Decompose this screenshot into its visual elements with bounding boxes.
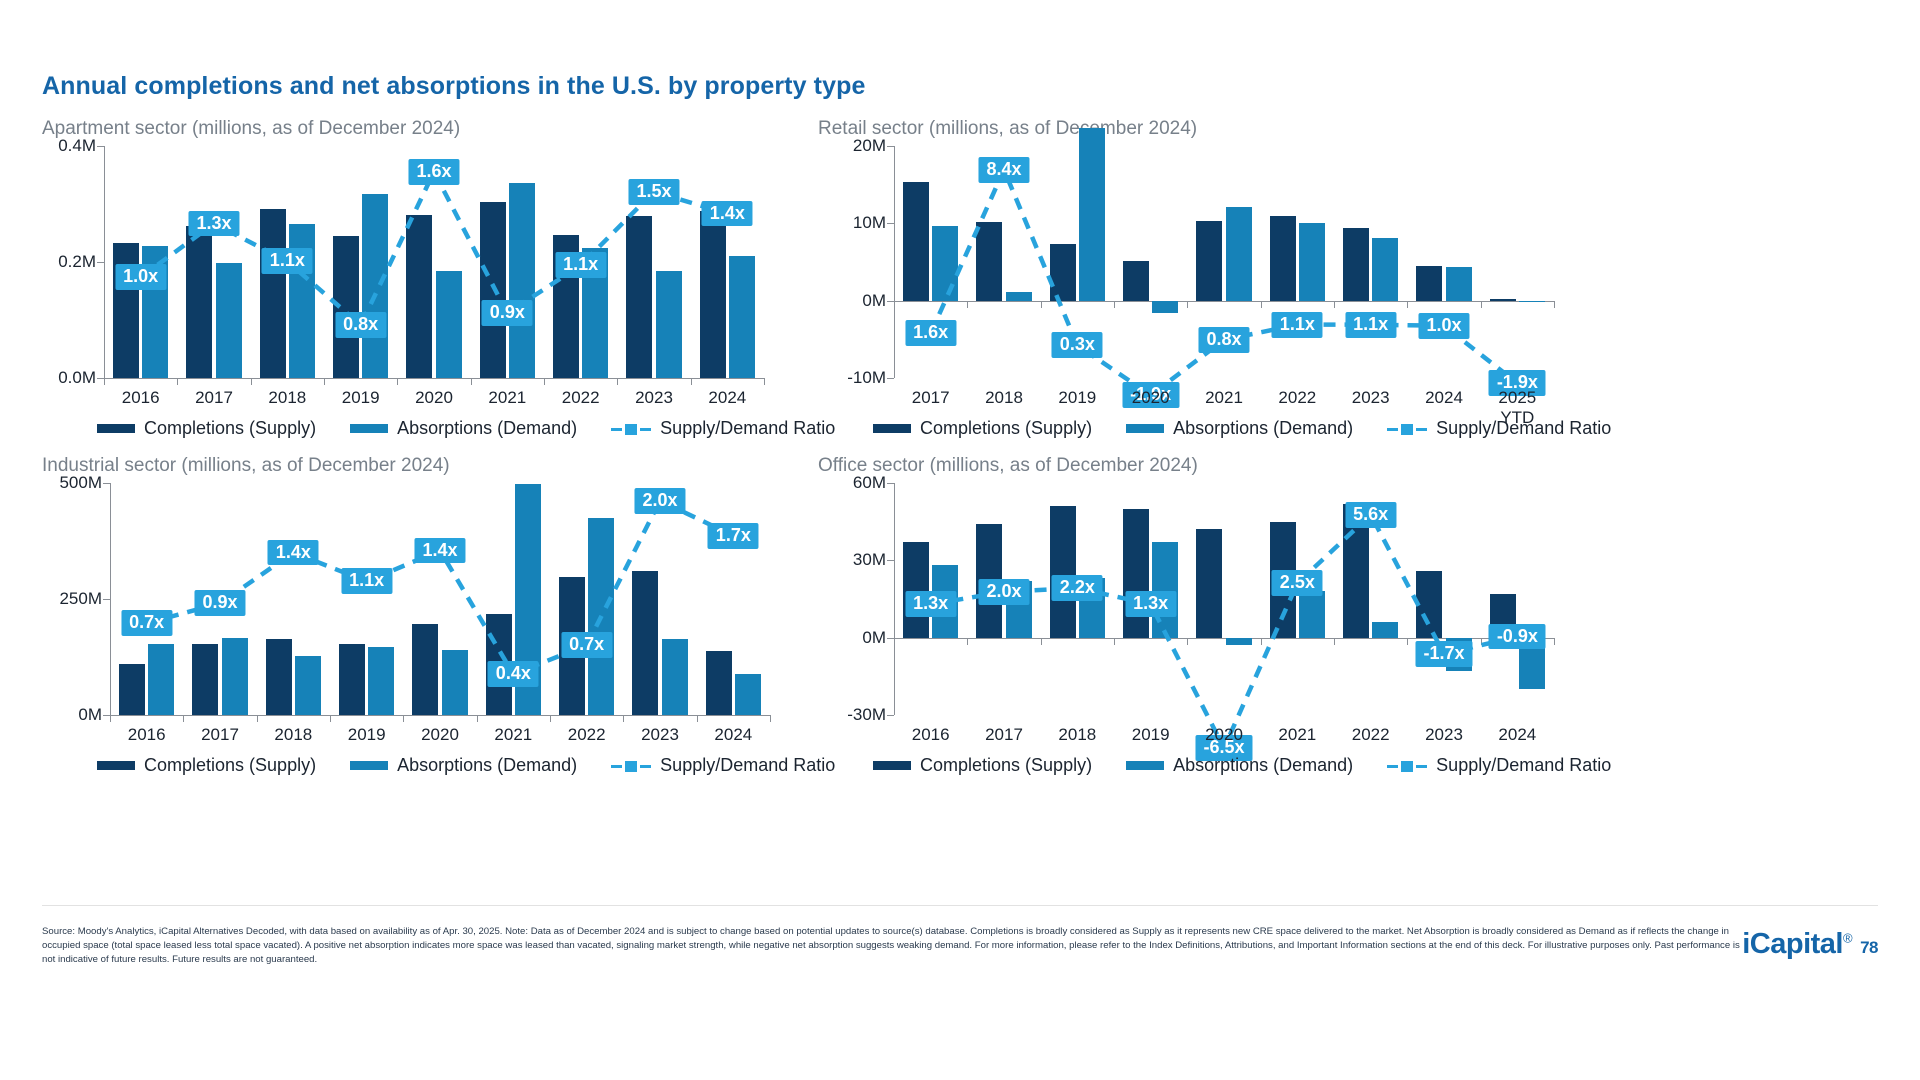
x-tick-label: 2022 (1352, 725, 1390, 745)
x-tick-label: 2019 (342, 388, 380, 408)
x-tick-mark (104, 378, 105, 385)
legend-swatch-demand-icon (1126, 761, 1164, 770)
ratio-badge: -0.9x (1489, 624, 1546, 650)
ratio-badge: 1.3x (905, 591, 956, 617)
x-tick-label: 2021 (488, 388, 526, 408)
x-tick-label: 2024 (708, 388, 746, 408)
ratio-badge: 2.0x (978, 579, 1029, 605)
plot-area-apartment: 0.0M0.2M0.4M1.0x1.3x1.1x0.8x1.6x0.9x1.1x… (42, 146, 764, 378)
chart-title-apartment: Apartment sector (millions, as of Decemb… (42, 118, 764, 140)
x-tick-label: 2020 (1205, 725, 1243, 745)
ratio-badge: 1.4x (414, 538, 465, 564)
ratio-badge: 2.5x (1272, 570, 1323, 596)
ratio-badge: 8.4x (978, 157, 1029, 183)
ratio-badge: 1.3x (1125, 591, 1176, 617)
chart-panel-industrial: Industrial sector (millions, as of Decem… (42, 455, 770, 715)
x-tick-label: 2016 (912, 725, 950, 745)
legend-item-supply[interactable]: Completions (Supply) (873, 418, 1092, 439)
x-tick-label: 2023 (1352, 388, 1390, 408)
legend-label-supply: Completions (Supply) (144, 755, 316, 776)
x-tick-label: 2021 (494, 725, 532, 745)
chart-panel-retail: Retail sector (millions, as of December … (818, 118, 1554, 378)
legend-item-ratio[interactable]: Supply/Demand Ratio (611, 418, 835, 439)
source-footnote: Source: Moody's Analytics, iCapital Alte… (42, 925, 1742, 967)
legend-swatch-supply-icon (873, 424, 911, 433)
ratio-badge: 0.9x (482, 300, 533, 326)
x-tick-label: 2018 (274, 725, 312, 745)
x-tick-mark (477, 715, 478, 722)
chart-panel-office: Office sector (millions, as of December … (818, 455, 1554, 715)
legend-industrial: Completions (Supply)Absorptions (Demand)… (97, 755, 835, 776)
legend-label-supply: Completions (Supply) (144, 418, 316, 439)
x-tick-mark (177, 378, 178, 385)
plot-area-office: -30M0M30M60M1.3x2.0x2.2x1.3x-6.5x2.5x5.6… (818, 483, 1554, 715)
x-tick-mark (110, 715, 111, 722)
ratio-badge: 1.7x (708, 523, 759, 549)
ratio-badge: 1.6x (408, 159, 459, 185)
zero-baseline (110, 715, 770, 716)
x-tick-label: 2017 (195, 388, 233, 408)
legend-swatch-supply-icon (97, 761, 135, 770)
ratio-badge: 5.6x (1345, 502, 1396, 528)
brand-name: iCapital (1742, 928, 1843, 960)
ratio-badge: 1.1x (341, 568, 392, 594)
x-tick-mark (764, 378, 765, 385)
x-tick-label: 2016 (128, 725, 166, 745)
legend-apartment: Completions (Supply)Absorptions (Demand)… (97, 418, 835, 439)
x-tick-mark (697, 715, 698, 722)
ratio-line-industrial (42, 483, 770, 715)
ratio-badge: 1.1x (1272, 312, 1323, 338)
legend-label-ratio: Supply/Demand Ratio (660, 755, 835, 776)
legend-label-supply: Completions (Supply) (920, 755, 1092, 776)
ratio-badge: 1.0x (1418, 313, 1469, 339)
legend-label-ratio: Supply/Demand Ratio (660, 418, 835, 439)
ratio-badge: -1.7x (1415, 641, 1472, 667)
x-tick-label: 2023 (635, 388, 673, 408)
legend-item-supply[interactable]: Completions (Supply) (97, 418, 316, 439)
ratio-badge: 0.8x (335, 312, 386, 338)
x-tick-mark (1554, 301, 1555, 308)
x-tick-label: 2018 (985, 388, 1023, 408)
x-tick-label: 2021 (1278, 725, 1316, 745)
x-tick-mark (544, 378, 545, 385)
legend-swatch-demand-icon (350, 761, 388, 770)
legend-item-demand[interactable]: Absorptions (Demand) (1126, 755, 1353, 776)
y-tick-mark (887, 378, 894, 379)
x-tick-label: 2021 (1205, 388, 1243, 408)
x-tick-label: 2018 (1058, 725, 1096, 745)
x-tick-mark (403, 715, 404, 722)
legend-item-demand[interactable]: Absorptions (Demand) (350, 418, 577, 439)
footer-divider (42, 905, 1878, 906)
chart-title-industrial: Industrial sector (millions, as of Decem… (42, 455, 770, 477)
x-tick-label: 2017 (201, 725, 239, 745)
x-tick-label: 2023 (641, 725, 679, 745)
ratio-badge: 1.4x (702, 201, 753, 227)
legend-label-demand: Absorptions (Demand) (397, 755, 577, 776)
legend-item-supply[interactable]: Completions (Supply) (873, 755, 1092, 776)
x-tick-mark (1554, 638, 1555, 645)
legend-retail: Completions (Supply)Absorptions (Demand)… (873, 418, 1611, 439)
ratio-badge: 0.8x (1198, 327, 1249, 353)
x-tick-mark (257, 715, 258, 722)
x-tick-label: 2017 (912, 388, 950, 408)
x-tick-mark (691, 378, 692, 385)
legend-label-supply: Completions (Supply) (920, 418, 1092, 439)
legend-swatch-ratio-icon (1387, 760, 1427, 772)
ratio-badge: 2.0x (634, 488, 685, 514)
x-tick-mark (623, 715, 624, 722)
ratio-badge: 1.0x (115, 264, 166, 290)
y-tick-mark (887, 715, 894, 716)
legend-label-demand: Absorptions (Demand) (1173, 755, 1353, 776)
legend-item-ratio[interactable]: Supply/Demand Ratio (1387, 755, 1611, 776)
y-tick-mark (97, 378, 104, 379)
page-number: 78 (1860, 938, 1878, 957)
legend-item-ratio[interactable]: Supply/Demand Ratio (611, 755, 835, 776)
ratio-badge: 0.7x (561, 632, 612, 658)
brand-registered-mark: ® (1843, 930, 1852, 945)
legend-label-demand: Absorptions (Demand) (1173, 418, 1353, 439)
legend-item-supply[interactable]: Completions (Supply) (97, 755, 316, 776)
x-tick-label: 2024 (1425, 388, 1463, 408)
x-tick-label: 2020 (1132, 388, 1170, 408)
plot-area-industrial: 0M250M500M0.7x0.9x1.4x1.1x1.4x0.4x0.7x2.… (42, 483, 770, 715)
page-title: Annual completions and net absorptions i… (42, 72, 865, 101)
ratio-badge: 1.5x (628, 179, 679, 205)
chart-title-office: Office sector (millions, as of December … (818, 455, 1554, 477)
x-tick-mark (324, 378, 325, 385)
plot-area-retail: -10M0M10M20M1.6x8.4x0.3x-1.9x0.8x1.1x1.1… (818, 146, 1554, 378)
x-tick-mark (471, 378, 472, 385)
x-tick-label: 2024 (714, 725, 752, 745)
x-tick-mark (617, 378, 618, 385)
x-tick-label: 2022 (562, 388, 600, 408)
x-tick-label: 2022 (1278, 388, 1316, 408)
ratio-badge: 0.7x (121, 610, 172, 636)
legend-item-demand[interactable]: Absorptions (Demand) (1126, 418, 1353, 439)
ratio-badge: 1.1x (1345, 312, 1396, 338)
x-tick-label: 2024 (1498, 725, 1536, 745)
legend-item-ratio[interactable]: Supply/Demand Ratio (1387, 418, 1611, 439)
x-tick-mark (397, 378, 398, 385)
x-tick-label: 2022 (568, 725, 606, 745)
ratio-badge: 1.1x (555, 252, 606, 278)
x-tick-label: 2016 (122, 388, 160, 408)
slide-page: Annual completions and net absorptions i… (0, 0, 1920, 1080)
legend-swatch-demand-icon (1126, 424, 1164, 433)
ratio-badge: 2.2x (1052, 575, 1103, 601)
ratio-badge: 0.4x (488, 661, 539, 687)
ratio-badge: 1.6x (905, 320, 956, 346)
legend-label-demand: Absorptions (Demand) (397, 418, 577, 439)
x-tick-mark (330, 715, 331, 722)
brand-logo: iCapital®78 (1742, 928, 1878, 961)
x-tick-label: 2019 (1058, 388, 1096, 408)
legend-swatch-supply-icon (873, 761, 911, 770)
ratio-badge: 0.3x (1052, 332, 1103, 358)
legend-item-demand[interactable]: Absorptions (Demand) (350, 755, 577, 776)
legend-swatch-demand-icon (350, 424, 388, 433)
zero-baseline (104, 378, 764, 379)
x-tick-label: 2019 (1132, 725, 1170, 745)
legend-swatch-ratio-icon (611, 760, 651, 772)
chart-title-retail: Retail sector (millions, as of December … (818, 118, 1554, 140)
legend-swatch-supply-icon (97, 424, 135, 433)
legend-swatch-ratio-icon (611, 423, 651, 435)
legend-swatch-ratio-icon (1387, 423, 1427, 435)
x-tick-label: 2023 (1425, 725, 1463, 745)
x-tick-mark (183, 715, 184, 722)
legend-label-ratio: Supply/Demand Ratio (1436, 418, 1611, 439)
ratio-badge: 1.1x (262, 248, 313, 274)
ratio-badge: 1.4x (268, 540, 319, 566)
legend-label-ratio: Supply/Demand Ratio (1436, 755, 1611, 776)
x-tick-label: 2019 (348, 725, 386, 745)
y-tick-mark (103, 715, 110, 716)
x-tick-label: 2017 (985, 725, 1023, 745)
legend-office: Completions (Supply)Absorptions (Demand)… (873, 755, 1611, 776)
x-tick-label: 2020 (421, 725, 459, 745)
x-tick-mark (251, 378, 252, 385)
ratio-badge: 1.3x (188, 211, 239, 237)
x-tick-mark (770, 715, 771, 722)
x-tick-label: 2020 (415, 388, 453, 408)
x-tick-label: 2018 (268, 388, 306, 408)
chart-panel-apartment: Apartment sector (millions, as of Decemb… (42, 118, 764, 378)
x-tick-mark (550, 715, 551, 722)
ratio-badge: 0.9x (194, 590, 245, 616)
